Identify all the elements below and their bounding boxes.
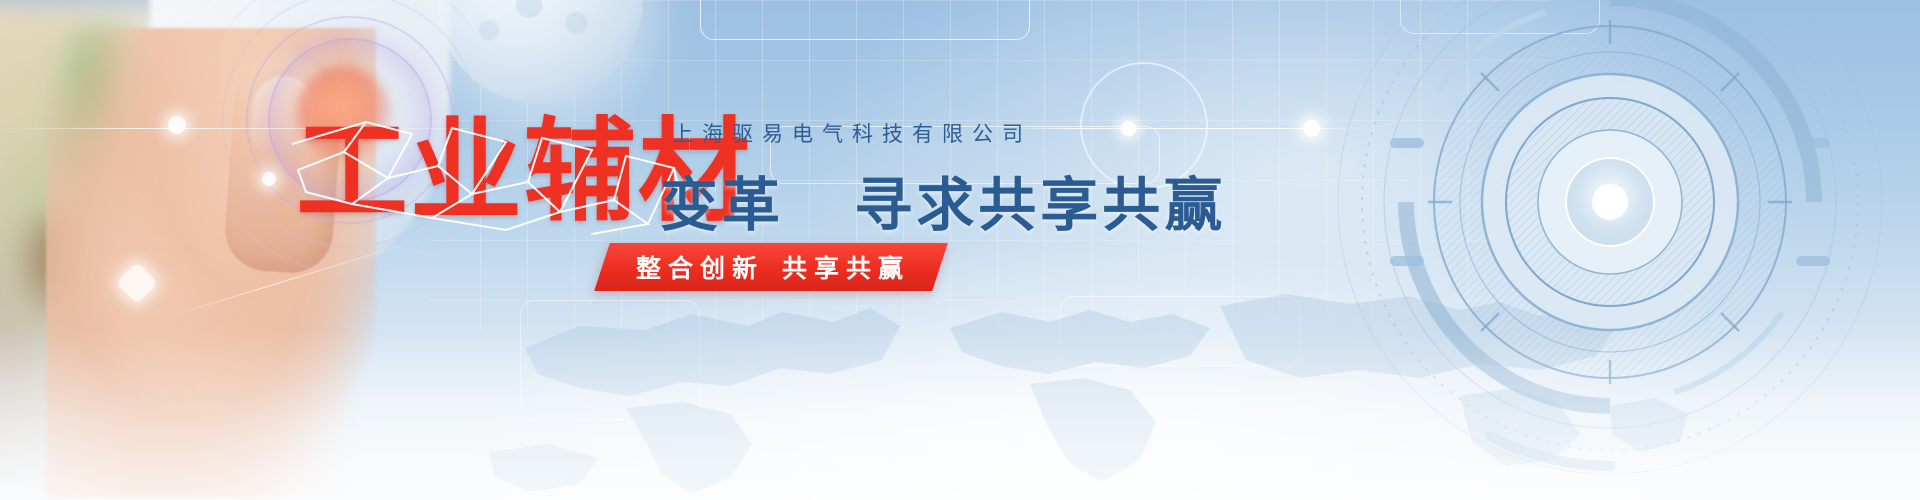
hero-banner: 工业辅材 上海驱易电气科技有限公司 变革 寻求共享共赢 整合创新共享共赢 [0,0,1920,500]
circuit-frame-1 [700,0,1030,40]
network-node-1 [168,116,186,134]
subtitle-part-1: 变革 [660,173,784,238]
company-name: 上海驱易电气科技有限公司 [672,118,1032,148]
subtitle-slogan: 变革 寻求共享共赢 [660,158,1226,242]
slogan-ribbon: 整合创新共享共赢 [594,243,948,291]
network-node-2 [262,172,276,186]
subtitle-part-2: 寻求共享共赢 [854,173,1226,238]
ribbon-part-2: 共享共赢 [782,255,910,283]
ribbon-text: 整合创新共享共赢 [636,249,910,285]
bottom-haze [0,330,1920,500]
ribbon-part-1: 整合创新 [636,255,764,283]
